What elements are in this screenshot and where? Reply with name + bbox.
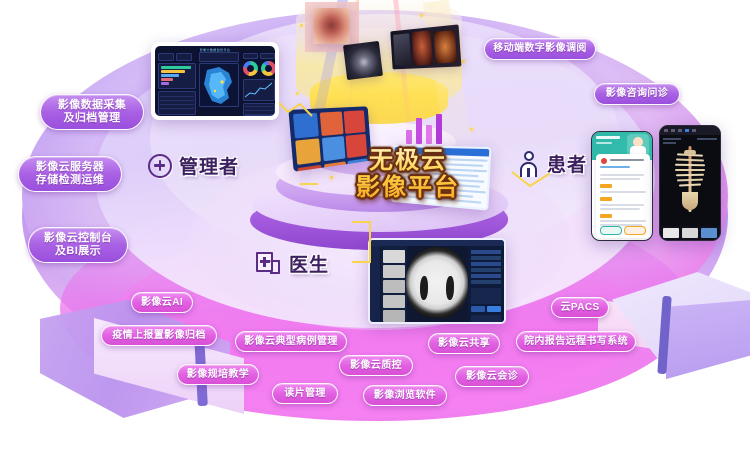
tag-image-consultation[interactable]: 影像咨询问诊 xyxy=(594,83,680,105)
platform-title: 无极云 影像平台 xyxy=(318,148,498,202)
sparkle xyxy=(470,128,473,131)
tag-image-cloud-quality-control[interactable]: 影像云质控 xyxy=(339,355,413,376)
person-icon xyxy=(518,151,540,177)
china-map-chart xyxy=(199,64,239,108)
tag-image-cloud-sharing[interactable]: 影像云共享 xyxy=(428,333,500,354)
analytics-dashboard-screen[interactable]: 影像大数据监管平台 xyxy=(151,42,279,120)
phone-thumbnail-strip xyxy=(660,226,720,240)
sparkle xyxy=(296,92,299,95)
tag-typical-case-management[interactable]: 影像云典型病例管理 xyxy=(235,331,347,352)
medical-record-plus-icon xyxy=(256,252,282,276)
sparkle xyxy=(300,24,303,27)
role-admin[interactable]: 管理者 xyxy=(148,152,239,179)
phone-report-card xyxy=(596,154,650,238)
imaging-panel-dark xyxy=(390,24,461,69)
sparkle xyxy=(462,60,465,63)
tag-image-data-collection[interactable]: 影像数据采集 及归档管理 xyxy=(40,94,144,130)
tag-intrahospital-remote-report[interactable]: 院内报告远程书写系统 xyxy=(516,331,636,352)
dashboard-canvas: 影像大数据监管平台 xyxy=(155,46,275,116)
tag-cloud-pacs[interactable]: 云PACS xyxy=(551,297,609,318)
ct-viewer-canvas xyxy=(370,240,504,322)
sparkle xyxy=(420,14,423,17)
tag-image-cloud-consultation[interactable]: 影像云会诊 xyxy=(455,366,529,387)
tag-image-browsing-software[interactable]: 影像浏览软件 xyxy=(363,385,447,406)
tag-standard-training[interactable]: 影像规培教学 xyxy=(177,364,259,385)
sparkle xyxy=(390,100,393,103)
tag-mobile-image-access[interactable]: 移动端数字影像调阅 xyxy=(484,38,596,60)
ct-lung-image xyxy=(406,247,468,318)
tag-image-cloud-console[interactable]: 影像云控制台 及BI展示 xyxy=(28,227,128,263)
tag-film-reading-management[interactable]: 读片管理 xyxy=(272,383,338,404)
role-admin-label: 管理者 xyxy=(179,152,239,179)
mini-bar-chart xyxy=(404,108,452,144)
ct-viewer-screen[interactable] xyxy=(368,238,506,324)
mobile-report-phone[interactable] xyxy=(591,131,653,241)
mobile-3d-anatomy-phone[interactable] xyxy=(659,125,721,241)
infographic-canvas: 影像大数据监管平台 xyxy=(0,0,750,450)
role-patient-label: 患者 xyxy=(547,150,587,177)
ultrasound-image xyxy=(343,41,383,80)
circle-plus-icon xyxy=(148,154,172,178)
role-doctor[interactable]: 医生 xyxy=(256,250,329,277)
ring-cut-right-side xyxy=(666,300,750,386)
3d-skeleton-render xyxy=(673,146,707,212)
endoscopy-image xyxy=(313,8,350,44)
tag-image-cloud-server[interactable]: 影像云服务器 存储检测运维 xyxy=(18,156,122,192)
tag-epidemic-report-archive[interactable]: 疫情上报置影像归档 xyxy=(101,325,217,346)
role-patient[interactable]: 患者 xyxy=(518,150,587,177)
role-doctor-label: 医生 xyxy=(289,250,329,277)
tag-image-cloud-ai[interactable]: 影像云AI xyxy=(131,292,193,313)
phone-toolbar xyxy=(660,126,720,135)
